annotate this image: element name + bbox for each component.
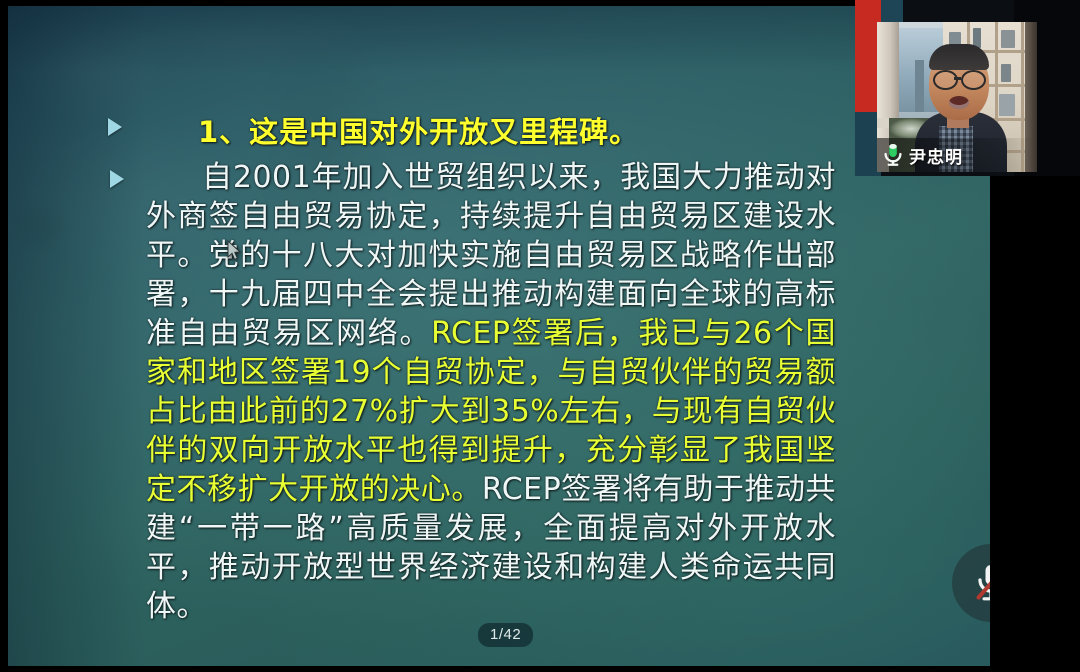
bullet-triangle-icon <box>108 118 122 136</box>
slide-content: 1、这是中国对外开放又里程碑。 自2001年加入世贸组织以来，我国大力推动对外商… <box>8 6 990 666</box>
participant-glasses-left <box>933 70 958 90</box>
participant-glasses-right <box>961 70 986 90</box>
participant-hair <box>929 44 989 70</box>
participant-name: 尹忠明 <box>909 143 963 168</box>
page-indicator: 1/42 <box>478 623 533 647</box>
slide-heading: 1、这是中国对外开放又里程碑。 <box>198 109 639 151</box>
background-building <box>915 60 924 112</box>
participant-video-tile[interactable]: 尹忠明 <box>855 0 1080 176</box>
participant-glasses-bridge <box>954 77 961 80</box>
bullet-triangle-icon <box>110 170 124 188</box>
mouse-pointer-icon <box>227 240 242 262</box>
microphone-muted-icon <box>971 561 990 605</box>
participant-name-plate: 尹忠明 <box>877 138 1037 172</box>
tile-accent-navy-top <box>881 0 903 22</box>
participant-mouth <box>949 96 969 109</box>
presentation-slide[interactable]: 1、这是中国对外开放又里程碑。 自2001年加入世贸组织以来，我国大力推动对外商… <box>8 6 990 666</box>
screen-share-stage: 1、这是中国对外开放又里程碑。 自2001年加入世贸组织以来，我国大力推动对外商… <box>0 0 1080 672</box>
slide-paragraph: 自2001年加入世贸组织以来，我国大力推动对外商签自由贸易协定，持续提升自由贸易… <box>146 158 836 626</box>
microphone-icon <box>882 142 904 168</box>
